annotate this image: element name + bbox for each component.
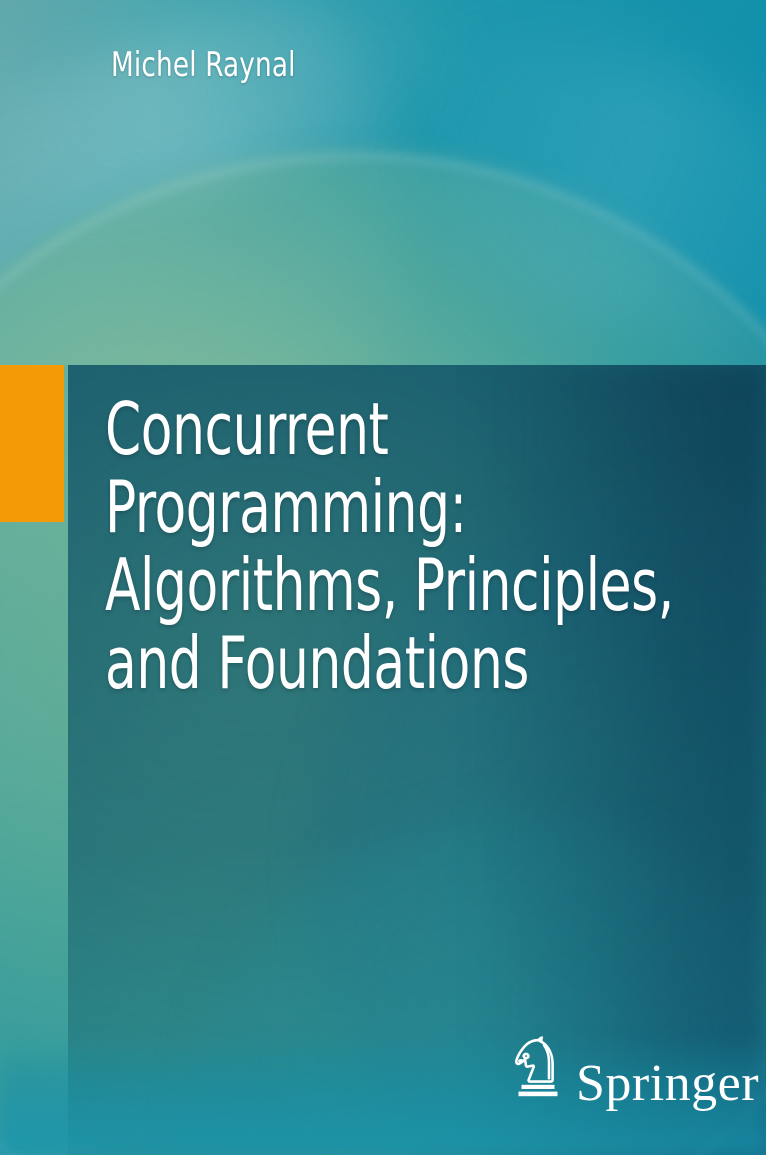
knight-plinth-lower <box>519 1092 558 1097</box>
publisher-name: Springer <box>576 1058 759 1110</box>
publisher-logo: Springer <box>508 1036 759 1102</box>
title-line-4: and Foundations <box>105 624 617 702</box>
springer-knight-icon <box>508 1036 566 1102</box>
title-line-2: Programming: <box>105 468 617 546</box>
title-line-3: Algorithms, Principles, <box>105 546 617 624</box>
wisp-highlight-right <box>336 0 766 408</box>
knight-plinth-upper <box>522 1085 555 1089</box>
title-line-1: Concurrent <box>105 390 617 468</box>
wisp-highlight-left <box>0 0 490 254</box>
book-cover: Michel Raynal Concurrent Programming: Al… <box>0 0 766 1155</box>
orange-accent-block <box>0 365 64 522</box>
book-title: Concurrent Programming: Algorithms, Prin… <box>105 390 745 702</box>
author-name: Michel Raynal <box>111 48 296 84</box>
